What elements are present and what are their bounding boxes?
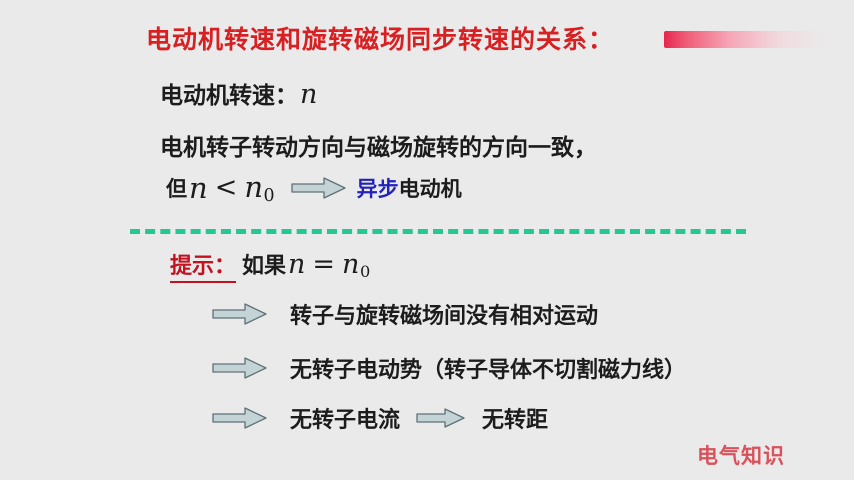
right-block-arrow-icon <box>212 356 268 380</box>
condition-rhs-subscript: 0 <box>263 186 275 206</box>
motor-speed-symbol: n <box>298 79 319 110</box>
title-accent-bar <box>664 31 824 48</box>
hint-rhs: n0 <box>340 249 372 281</box>
conclusion-text-secondary: 无转距 <box>482 402 548 434</box>
condition-result-highlight: 异步 <box>357 173 399 203</box>
hint-rhs-subscript: 0 <box>359 262 370 281</box>
direction-statement: 电机转子转动方向与磁场旋转的方向一致， <box>160 128 597 162</box>
condition-lhs: n <box>187 171 210 205</box>
conclusion-row: 无转子电动势（转子导体不切割磁力线） <box>212 352 686 384</box>
right-block-arrow-icon <box>416 407 466 429</box>
motor-speed-label: 电动机转速： <box>160 83 298 108</box>
condition-prefix: 但 <box>166 173 187 203</box>
right-block-arrow-icon <box>291 176 347 200</box>
condition-line: 但 n < n0 异步电动机 <box>166 170 462 206</box>
slide-canvas: 电动机转速和旋转磁场同步转速的关系： 电动机转速：n 电机转子转动方向与磁场旋转… <box>0 0 854 480</box>
hint-rhs-symbol: n <box>342 249 359 280</box>
right-block-arrow-icon <box>212 302 268 326</box>
conclusion-row: 无转子电流 无转距 <box>212 402 548 434</box>
condition-operator: < <box>210 172 243 203</box>
conclusion-row: 转子与旋转磁场间没有相对运动 <box>212 298 598 330</box>
section-divider <box>130 229 746 234</box>
page-title: 电动机转速和旋转磁场同步转速的关系： <box>146 20 614 56</box>
hint-text: 如果 <box>242 248 286 280</box>
hint-line: 提示： 如果 n = n0 <box>170 248 372 283</box>
right-block-arrow-icon <box>212 406 268 430</box>
hint-lhs: n <box>286 249 307 280</box>
conclusion-text: 无转子电流 <box>290 402 400 434</box>
condition-rhs: n0 <box>242 170 276 206</box>
conclusion-text: 无转子电动势（转子导体不切割磁力线） <box>290 352 686 384</box>
hint-label: 提示： <box>170 248 236 283</box>
watermark: 电气知识 <box>697 440 785 470</box>
condition-rhs-symbol: n <box>244 170 263 204</box>
motor-speed-line: 电动机转速：n <box>160 76 319 110</box>
condition-result-rest: 电动机 <box>399 173 462 203</box>
conclusion-text: 转子与旋转磁场间没有相对运动 <box>290 298 598 330</box>
hint-operator: = <box>307 249 340 280</box>
